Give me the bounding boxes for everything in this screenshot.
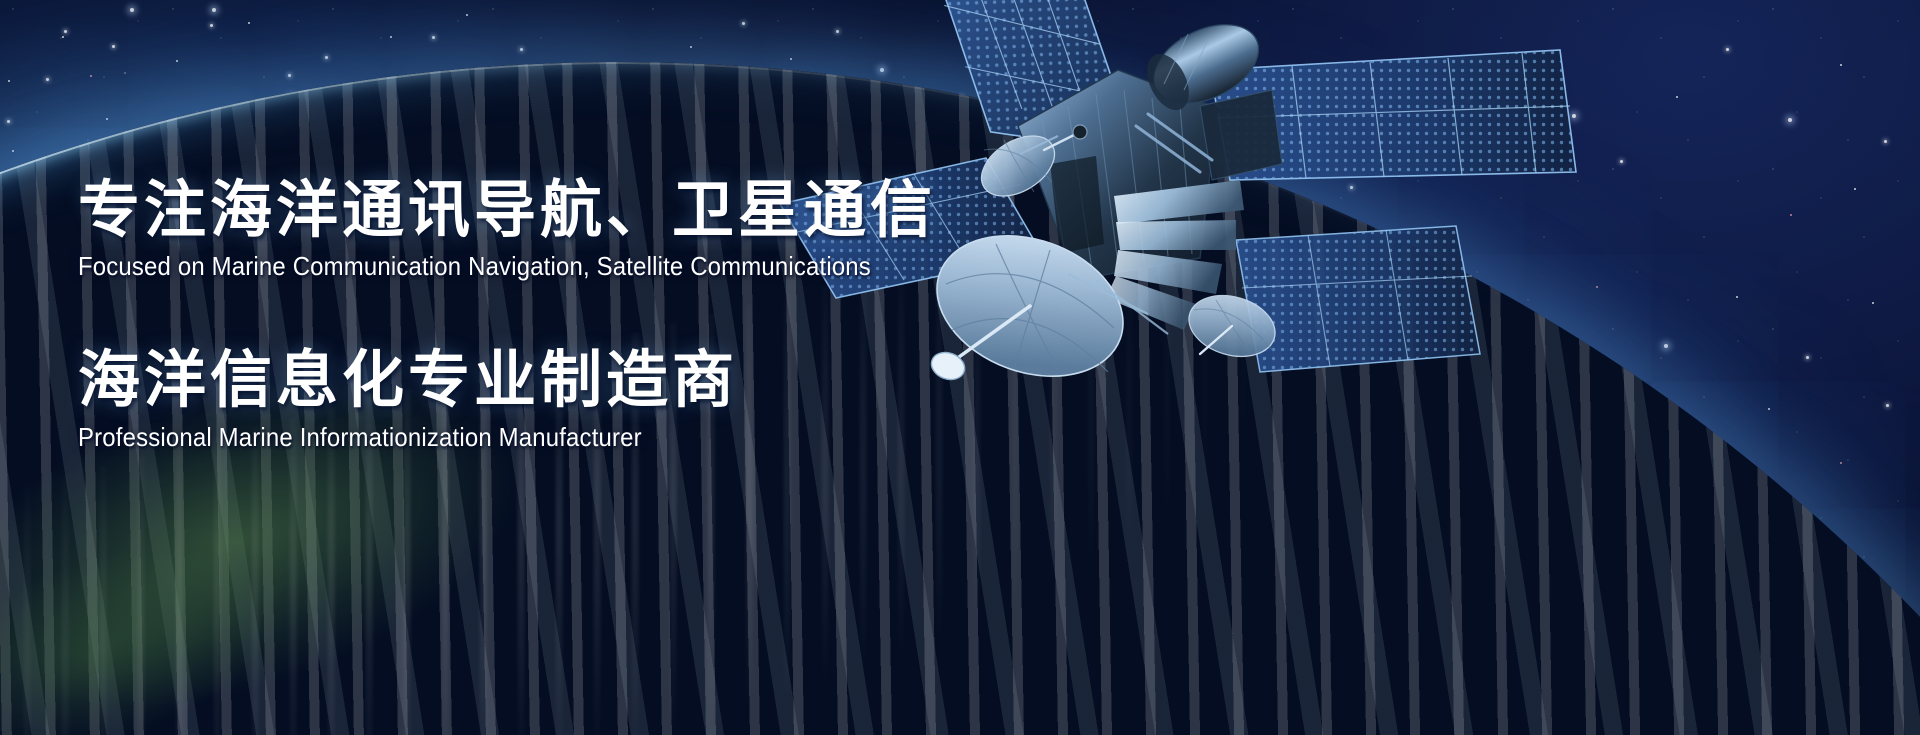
headline-secondary-chinese: 海洋信息化专业制造商	[78, 346, 1178, 415]
headline-secondary-english: Professional Marine Informationization M…	[78, 422, 1090, 453]
headline-primary-chinese: 专注海洋通讯导航、卫星通信	[78, 176, 1178, 245]
hero-copy: 专注海洋通讯导航、卫星通信 Focused on Marine Communic…	[78, 176, 1178, 453]
headline-block-primary: 专注海洋通讯导航、卫星通信 Focused on Marine Communic…	[78, 176, 1178, 282]
headline-primary-english: Focused on Marine Communication Navigati…	[78, 251, 1090, 282]
hero-banner: 专注海洋通讯导航、卫星通信 Focused on Marine Communic…	[0, 0, 1920, 735]
headline-block-secondary: 海洋信息化专业制造商 Professional Marine Informati…	[78, 346, 1178, 452]
